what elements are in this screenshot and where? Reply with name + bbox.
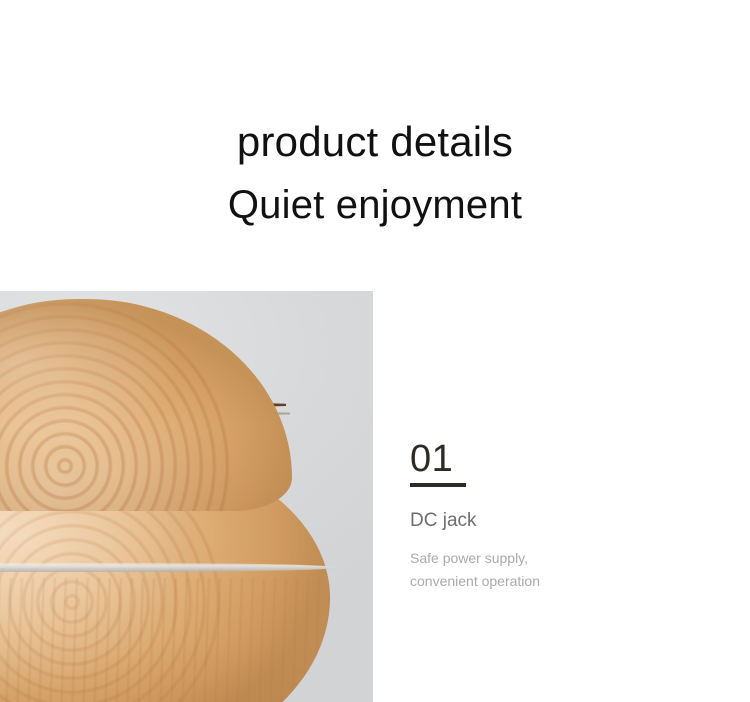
product-detail-page: product details Quiet enjoyment 01 DC ja…	[0, 0, 750, 702]
feature-description-line-1: Safe power supply,	[410, 547, 710, 570]
headings-block: product details Quiet enjoyment	[0, 113, 750, 233]
feature-number: 01	[410, 437, 710, 481]
product-photo	[0, 291, 373, 702]
diffuser-lid	[0, 299, 292, 511]
page-subtitle: Quiet enjoyment	[0, 177, 750, 233]
feature-block: 01 DC jack Safe power supply, convenient…	[410, 437, 710, 593]
feature-description: Safe power supply, convenient operation	[410, 547, 710, 593]
lid-shading	[0, 299, 292, 511]
feature-divider	[410, 483, 466, 487]
feature-title: DC jack	[410, 509, 710, 533]
page-title: product details	[0, 113, 750, 171]
feature-description-line-2: convenient operation	[410, 570, 710, 593]
